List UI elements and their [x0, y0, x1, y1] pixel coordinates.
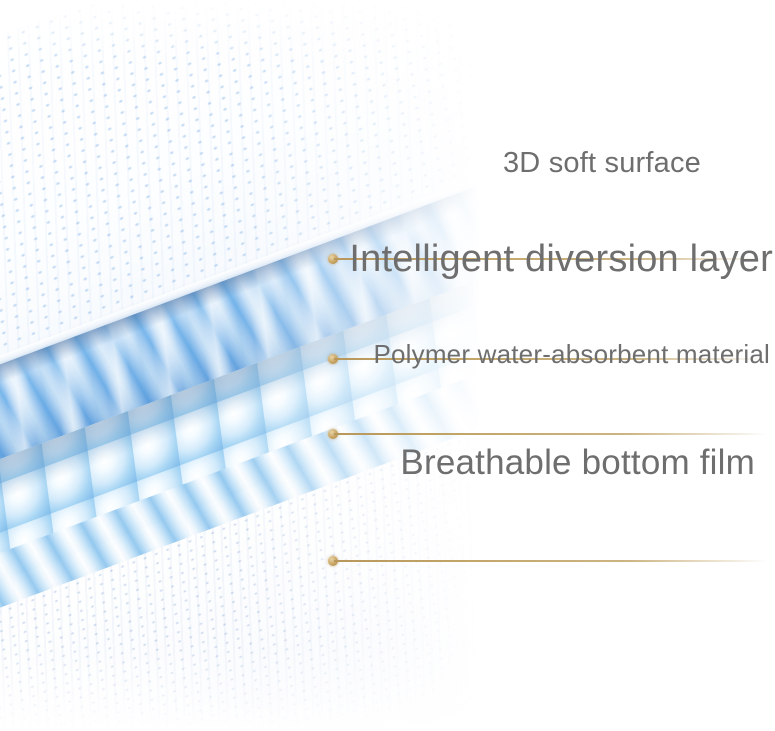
callout-label-polymer-water-absorbent-material: Polymer water-absorbent material	[373, 341, 770, 367]
callout-label-intelligent-diversion-layer: Intelligent diversion layer	[349, 240, 773, 278]
callout-leader-line	[334, 560, 767, 562]
product-layer-diagram: 3D soft surface Intelligent diversion la…	[0, 0, 775, 731]
callout-label-3d-soft-surface: 3D soft surface	[503, 149, 701, 178]
callout-leader-line	[334, 433, 767, 435]
callout-label-breathable-bottom-film: Breathable bottom film	[400, 445, 755, 480]
